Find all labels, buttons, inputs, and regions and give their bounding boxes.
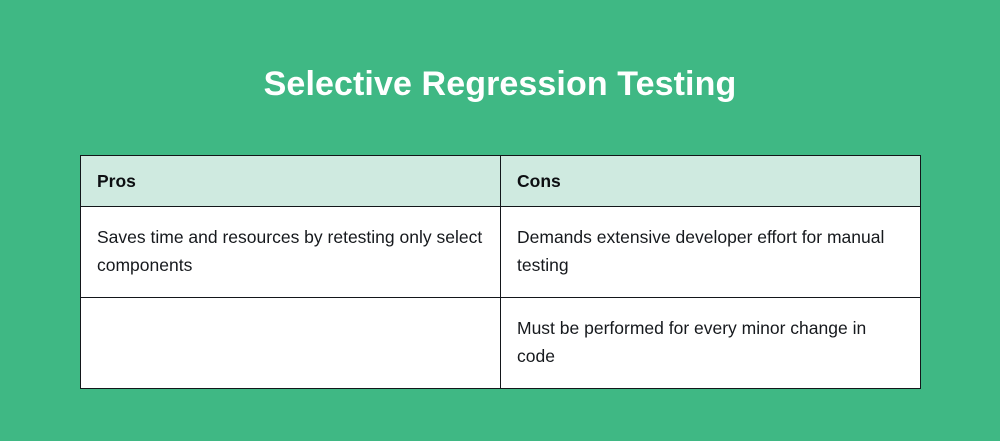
column-header-cons: Cons	[501, 156, 921, 207]
pros-cons-table: Pros Cons Saves time and resources by re…	[80, 155, 921, 389]
table-row: Saves time and resources by retesting on…	[81, 207, 921, 298]
table-header: Pros Cons	[81, 156, 921, 207]
column-header-pros: Pros	[81, 156, 501, 207]
cell-cons-2: Must be performed for every minor change…	[501, 298, 921, 389]
cell-cons-1-text: Demands extensive developer effort for m…	[517, 223, 904, 279]
cell-cons-2-text: Must be performed for every minor change…	[517, 314, 904, 370]
cell-pros-2	[81, 298, 501, 389]
cell-cons-1: Demands extensive developer effort for m…	[501, 207, 921, 298]
cell-pros-1-text: Saves time and resources by retesting on…	[97, 223, 484, 279]
table-body: Saves time and resources by retesting on…	[81, 207, 921, 389]
column-header-pros-label: Pros	[97, 170, 484, 192]
cell-pros-2-text	[97, 314, 484, 342]
column-header-cons-label: Cons	[517, 170, 904, 192]
page-title: Selective Regression Testing	[0, 62, 1000, 106]
slide-canvas: Selective Regression Testing Pros Cons S…	[0, 0, 1000, 441]
table-row: Must be performed for every minor change…	[81, 298, 921, 389]
table-header-row: Pros Cons	[81, 156, 921, 207]
cell-pros-1: Saves time and resources by retesting on…	[81, 207, 501, 298]
